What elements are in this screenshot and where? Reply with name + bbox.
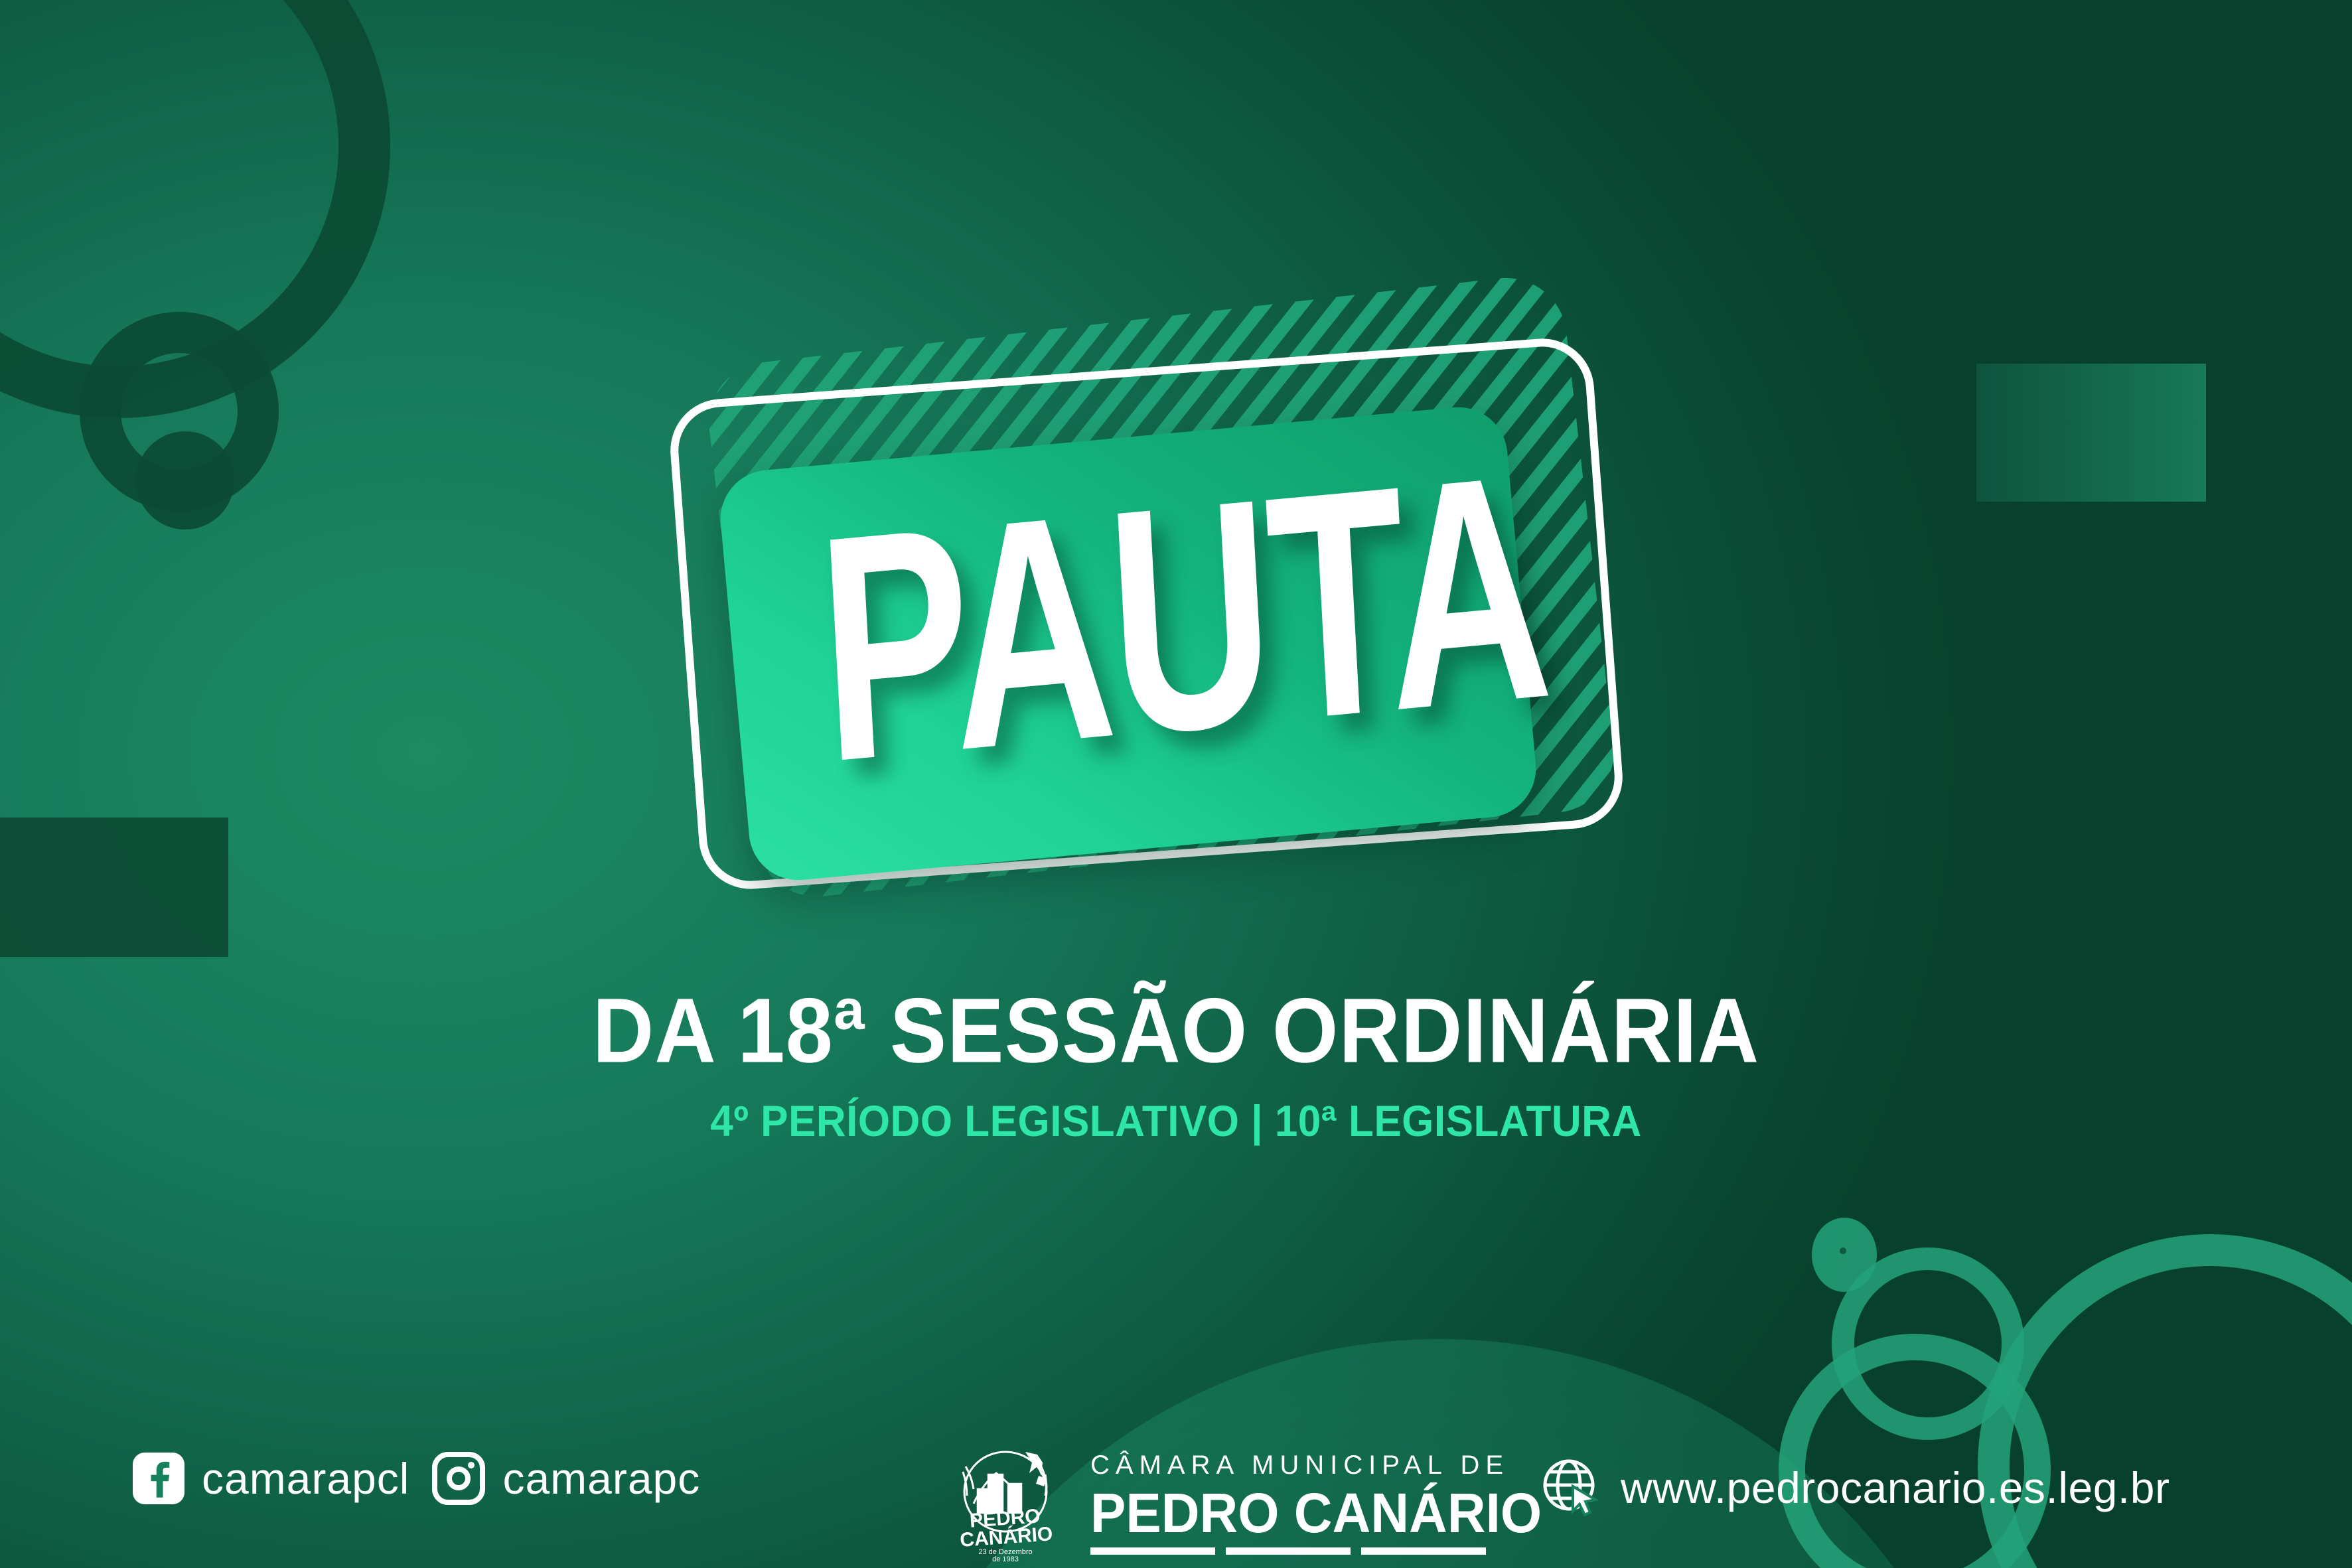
svg-text:de 1983: de 1983 bbox=[992, 1555, 1019, 1563]
pauta-word-wrap: PAUTA bbox=[660, 277, 1706, 962]
globe-cursor-icon bbox=[1540, 1457, 1601, 1518]
decor-rect-right bbox=[1976, 364, 2206, 502]
social-item-instagram[interactable]: camarapc bbox=[432, 1452, 700, 1505]
pauta-badge: PAUTA bbox=[690, 312, 1686, 909]
brand-rule-divider bbox=[1090, 1547, 1542, 1555]
pedro-canario-crest-icon: PEDRO CANÁRIO 23 de Dezembro de 1983 bbox=[939, 1440, 1072, 1566]
session-title: DA 18ª SESSÃO ORDINÁRIA bbox=[0, 985, 2352, 1077]
instagram-handle: camarapc bbox=[502, 1453, 700, 1504]
decor-dot-top-left bbox=[136, 431, 234, 530]
social-item-facebook[interactable]: camarapcl bbox=[133, 1453, 409, 1504]
pauta-word: PAUTA bbox=[814, 455, 1552, 783]
decor-dot-bottom-right bbox=[1812, 1218, 1877, 1292]
brand-lockup: PEDRO CANÁRIO 23 de Dezembro de 1983 CÂM… bbox=[939, 1440, 1542, 1566]
website-url: www.pedrocanario.es.leg.br bbox=[1621, 1462, 2169, 1513]
social-links: camarapcl camarapc bbox=[133, 1452, 700, 1505]
footer-bar: camarapcl camarapc bbox=[0, 1440, 2352, 1568]
facebook-icon bbox=[133, 1453, 184, 1504]
decor-ring-top-left-medium bbox=[80, 312, 279, 511]
decor-rect-left bbox=[0, 818, 228, 957]
brand-line-1: CÂMARA MUNICIPAL DE bbox=[1090, 1452, 1542, 1478]
decor-ring-bottom-right-small bbox=[1832, 1247, 2024, 1440]
headline-block: DA 18ª SESSÃO ORDINÁRIA 4º PERÍODO LEGIS… bbox=[0, 989, 2352, 1143]
instagram-icon bbox=[432, 1452, 485, 1505]
poster-canvas: PAUTA DA 18ª SESSÃO ORDINÁRIA 4º PERÍODO… bbox=[0, 0, 2352, 1568]
decor-ring-top-left-large bbox=[0, 0, 390, 418]
brand-line-2: PEDRO CANÁRIO bbox=[1090, 1485, 1542, 1541]
decor-dot-bottom-right-center bbox=[1840, 1247, 1846, 1254]
facebook-handle: camarapcl bbox=[202, 1453, 409, 1504]
instagram-lens bbox=[447, 1466, 471, 1490]
website-link[interactable]: www.pedrocanario.es.leg.br bbox=[1540, 1457, 2169, 1518]
instagram-flash-dot bbox=[468, 1462, 475, 1468]
brand-text: CÂMARA MUNICIPAL DE PEDRO CANÁRIO bbox=[1090, 1452, 1542, 1555]
session-subtitle: 4º PERÍODO LEGISLATIVO | 10ª LEGISLATURA bbox=[0, 1100, 2352, 1144]
